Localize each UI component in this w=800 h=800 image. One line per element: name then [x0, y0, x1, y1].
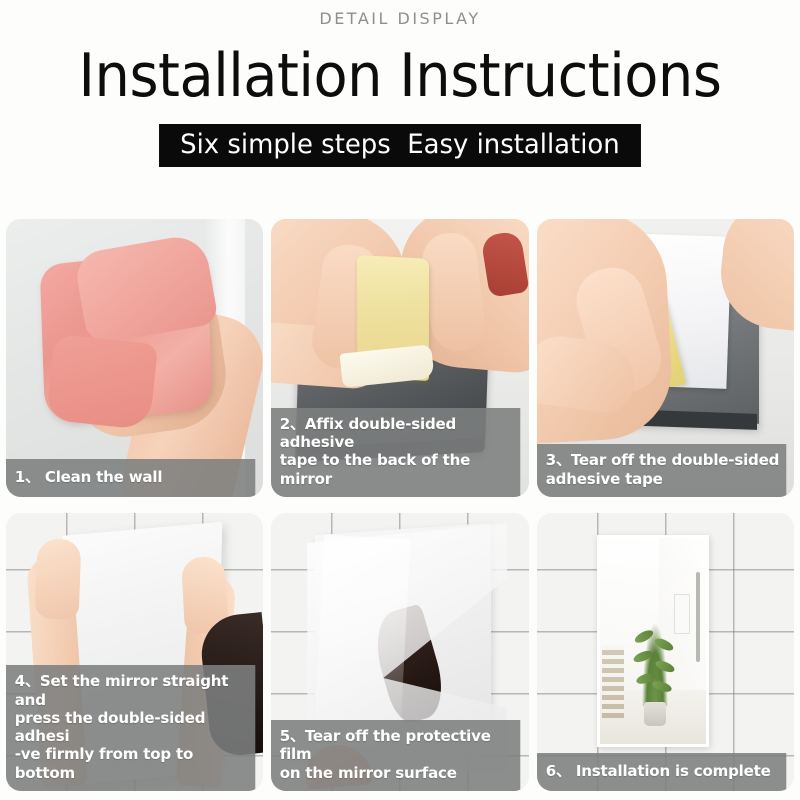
steps-grid: 1、 Clean the wall 2、Affix double-sided a…	[6, 219, 794, 791]
scene-clean-the-wall	[6, 219, 263, 497]
step-caption-4: 4、Set the mirror straight and press the …	[6, 665, 256, 791]
step-panel-5[interactable]: 5、Tear off the protective film on the mi…	[271, 513, 528, 791]
step-caption-2: 2、Affix double-sided adhesive tape to th…	[271, 408, 521, 497]
step-panel-4[interactable]: 4、Set the mirror straight and press the …	[6, 513, 263, 791]
subtitle-bar-wrapper: Six simple steps Easy installation	[0, 124, 800, 167]
subtitle-banner: Six simple steps Easy installation	[159, 124, 641, 167]
reflected-shelf	[602, 646, 624, 718]
reflected-plant-pot	[644, 702, 666, 726]
leaf	[633, 628, 655, 645]
leaf	[632, 649, 654, 665]
scene-installation-complete	[537, 513, 794, 791]
left-hand	[35, 538, 82, 619]
page-title: Installation Instructions	[28, 46, 772, 106]
step-panel-3[interactable]: 3、Tear off the double-sided adhesive tap…	[537, 219, 794, 497]
installed-mirror	[597, 535, 709, 747]
step-caption-5: 5、Tear off the protective film on the mi…	[271, 720, 521, 791]
step-panel-2[interactable]: 2、Affix double-sided adhesive tape to th…	[271, 219, 528, 497]
film-highlight	[314, 535, 411, 749]
step-caption-1: 1、 Clean the wall	[6, 459, 256, 497]
reflected-plant	[642, 622, 668, 706]
pink-cloth-fold	[46, 334, 158, 430]
step-panel-6[interactable]: 6、 Installation is complete	[537, 513, 794, 791]
eyebrow-label: DETAIL DISPLAY	[0, 0, 800, 28]
reflected-room	[600, 538, 706, 744]
reflected-door-handle	[696, 572, 700, 662]
step-panel-1[interactable]: 1、 Clean the wall	[6, 219, 263, 497]
reflected-picture-frame	[674, 594, 690, 634]
step-caption-3: 3、Tear off the double-sided adhesive tap…	[537, 444, 787, 497]
step-caption-6: 6、 Installation is complete	[537, 753, 787, 791]
